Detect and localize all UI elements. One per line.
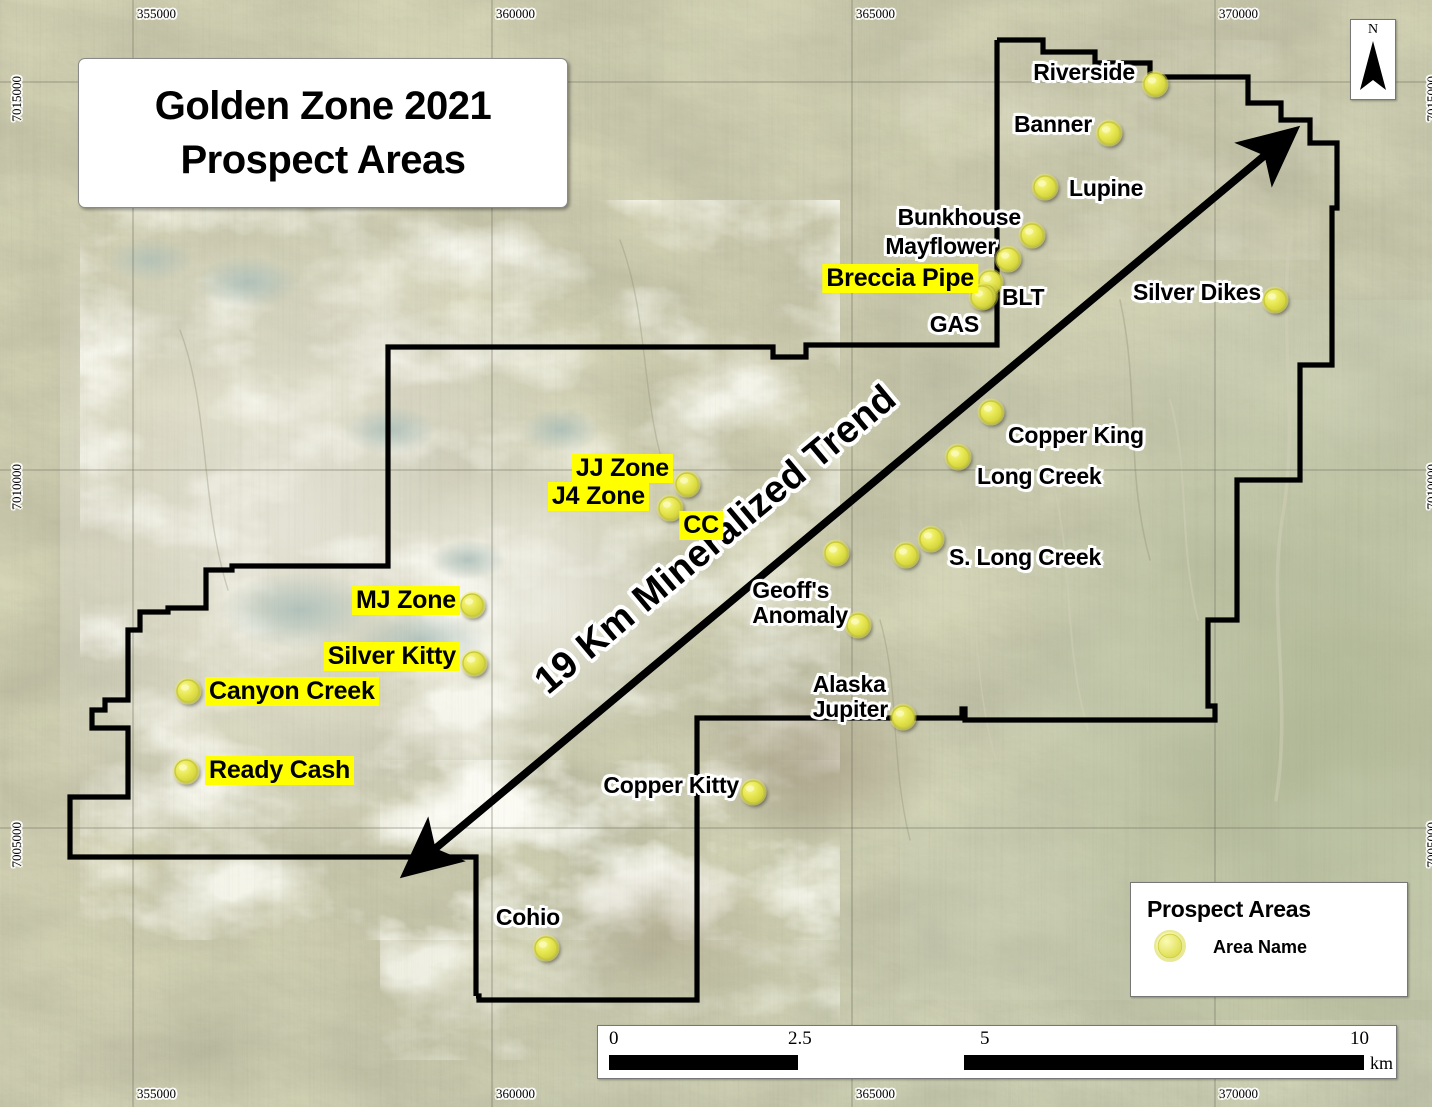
legend-heading: Prospect Areas	[1147, 896, 1407, 923]
prospect-marker[interactable]	[823, 540, 850, 567]
prospect-marker[interactable]	[1262, 287, 1289, 314]
grid-easting-label: 360000	[496, 1086, 535, 1102]
grid-northing-label: 7010000	[1424, 464, 1432, 510]
prospect-label: Bunkhouse	[898, 205, 1021, 230]
scale-bar-ticks: 0 2.5 5 10	[598, 1026, 1396, 1050]
prospect-label-line: Copper Kitty	[603, 773, 739, 798]
scale-bar-unit: km	[1370, 1053, 1393, 1074]
prospect-label-line: Silver Dikes	[1133, 280, 1261, 305]
prospect-label-line: Geoff's	[752, 578, 848, 603]
scale-tick-5: 5	[980, 1028, 990, 1050]
prospect-label: Geoff'sAnomaly	[752, 578, 848, 628]
prospect-label: Silver Dikes	[1133, 280, 1261, 305]
map-canvas: 19 Km Mineralized Trend RiversideBannerL…	[0, 0, 1432, 1107]
prospect-marker[interactable]	[175, 678, 202, 705]
grid-easting-label: 370000	[1219, 6, 1258, 22]
map-title-box: Golden Zone 2021 Prospect Areas	[78, 58, 568, 208]
scale-bar: 0 2.5 5 10 km	[597, 1025, 1397, 1079]
prospect-label-line: S. Long Creek	[949, 545, 1101, 570]
north-arrow-label: N	[1351, 22, 1395, 38]
prospect-label-line: CC	[683, 512, 719, 539]
prospect-label-line: Riverside	[1033, 60, 1135, 85]
scale-tick-0: 0	[609, 1028, 619, 1050]
prospect-marker[interactable]	[995, 246, 1022, 273]
prospect-label-line: Alaska	[813, 672, 888, 697]
map-title-line-1: Golden Zone 2021	[155, 79, 492, 133]
north-arrow-box: N	[1350, 19, 1396, 100]
prospect-label-line: MJ Zone	[356, 587, 456, 614]
scale-tick-10: 10	[1350, 1028, 1369, 1050]
grid-easting-label: 365000	[856, 1086, 895, 1102]
prospect-label: Cohio	[496, 905, 560, 930]
prospect-label-line: Silver Kitty	[328, 643, 456, 670]
grid-easting-label: 355000	[137, 6, 176, 22]
prospect-label: BLT	[1002, 285, 1044, 310]
prospect-label: GAS	[930, 312, 979, 337]
prospect-label: Canyon Creek	[206, 678, 378, 705]
grid-northing-label: 7015000	[1424, 76, 1432, 122]
grid-easting-label: 365000	[856, 6, 895, 22]
grid-northing-label: 7010000	[9, 464, 25, 510]
prospect-label-line: Breccia Pipe	[826, 265, 974, 292]
map-title-line-2: Prospect Areas	[181, 133, 466, 187]
prospect-label: Copper Kitty	[603, 773, 739, 798]
grid-northing-label: 7005000	[9, 822, 25, 868]
prospect-label-line: Canyon Creek	[209, 678, 375, 705]
prospect-label: J4 Zone	[549, 483, 648, 510]
prospect-marker[interactable]	[173, 758, 200, 785]
prospect-marker[interactable]	[890, 704, 917, 731]
claim-boundary-polygon	[476, 40, 1337, 1000]
grid-northing-label: 7005000	[1424, 822, 1432, 868]
prospect-label-line: J4 Zone	[552, 483, 645, 510]
prospect-label: Silver Kitty	[325, 643, 459, 670]
prospect-label-line: Anomaly	[752, 603, 848, 628]
prospect-label: Breccia Pipe	[823, 265, 977, 292]
scale-seg-3	[964, 1055, 1364, 1070]
prospect-label: CC	[680, 512, 722, 539]
prospect-label-line: Lupine	[1069, 176, 1143, 201]
prospect-label: S. Long Creek	[949, 545, 1101, 570]
prospect-marker[interactable]	[674, 471, 701, 498]
prospect-label-line: Mayflower	[885, 234, 996, 259]
legend-box: Prospect Areas Area Name	[1130, 882, 1408, 997]
prospect-marker[interactable]	[845, 612, 872, 639]
north-arrow-icon	[1351, 38, 1395, 96]
prospect-label: MJ Zone	[353, 587, 459, 614]
legend-symbol-label: Area Name	[1213, 937, 1307, 958]
prospect-label-line: Ready Cash	[209, 757, 350, 784]
scale-bar-segments	[609, 1055, 1364, 1070]
prospect-label: Mayflower	[885, 234, 996, 259]
prospect-label: Lupine	[1069, 176, 1143, 201]
prospect-label: AlaskaJupiter	[813, 672, 888, 722]
prospect-label: Riverside	[1033, 60, 1135, 85]
prospect-label-line: Copper King	[1008, 423, 1144, 448]
prospect-label-line: Banner	[1014, 112, 1092, 137]
scale-seg-2	[798, 1055, 964, 1070]
prospect-marker[interactable]	[533, 935, 560, 962]
prospect-label: Ready Cash	[206, 757, 353, 784]
grid-easting-label: 360000	[496, 6, 535, 22]
prospect-label-line: JJ Zone	[576, 455, 669, 482]
prospect-marker[interactable]	[1142, 71, 1169, 98]
prospect-marker[interactable]	[740, 779, 767, 806]
prospect-marker[interactable]	[1096, 120, 1123, 147]
prospect-label: Copper King	[1008, 423, 1144, 448]
prospect-label: JJ Zone	[573, 455, 672, 482]
prospect-label-line: GAS	[930, 312, 979, 337]
grid-easting-label: 370000	[1219, 1086, 1258, 1102]
prospect-label-line: BLT	[1002, 285, 1044, 310]
prospect-label: Banner	[1014, 112, 1092, 137]
prospect-label-line: Cohio	[496, 905, 560, 930]
prospect-marker[interactable]	[918, 526, 945, 553]
scale-tick-2-5: 2.5	[788, 1028, 812, 1050]
prospect-marker[interactable]	[461, 650, 488, 677]
scale-seg-1	[609, 1055, 798, 1070]
prospect-label-line: Jupiter	[813, 697, 888, 722]
prospect-label: Long Creek	[977, 464, 1102, 489]
yellow-circle-marker-icon	[1153, 929, 1189, 965]
grid-easting-label: 355000	[137, 1086, 176, 1102]
prospect-marker[interactable]	[1019, 222, 1046, 249]
legend-row: Area Name	[1153, 929, 1407, 965]
grid-northing-label: 7015000	[9, 76, 25, 122]
prospect-marker[interactable]	[1032, 174, 1059, 201]
prospect-marker[interactable]	[978, 399, 1005, 426]
prospect-marker[interactable]	[459, 592, 486, 619]
prospect-marker[interactable]	[945, 444, 972, 471]
prospect-label-line: Long Creek	[977, 464, 1102, 489]
prospect-marker[interactable]	[893, 542, 920, 569]
prospect-label-line: Bunkhouse	[898, 205, 1021, 230]
